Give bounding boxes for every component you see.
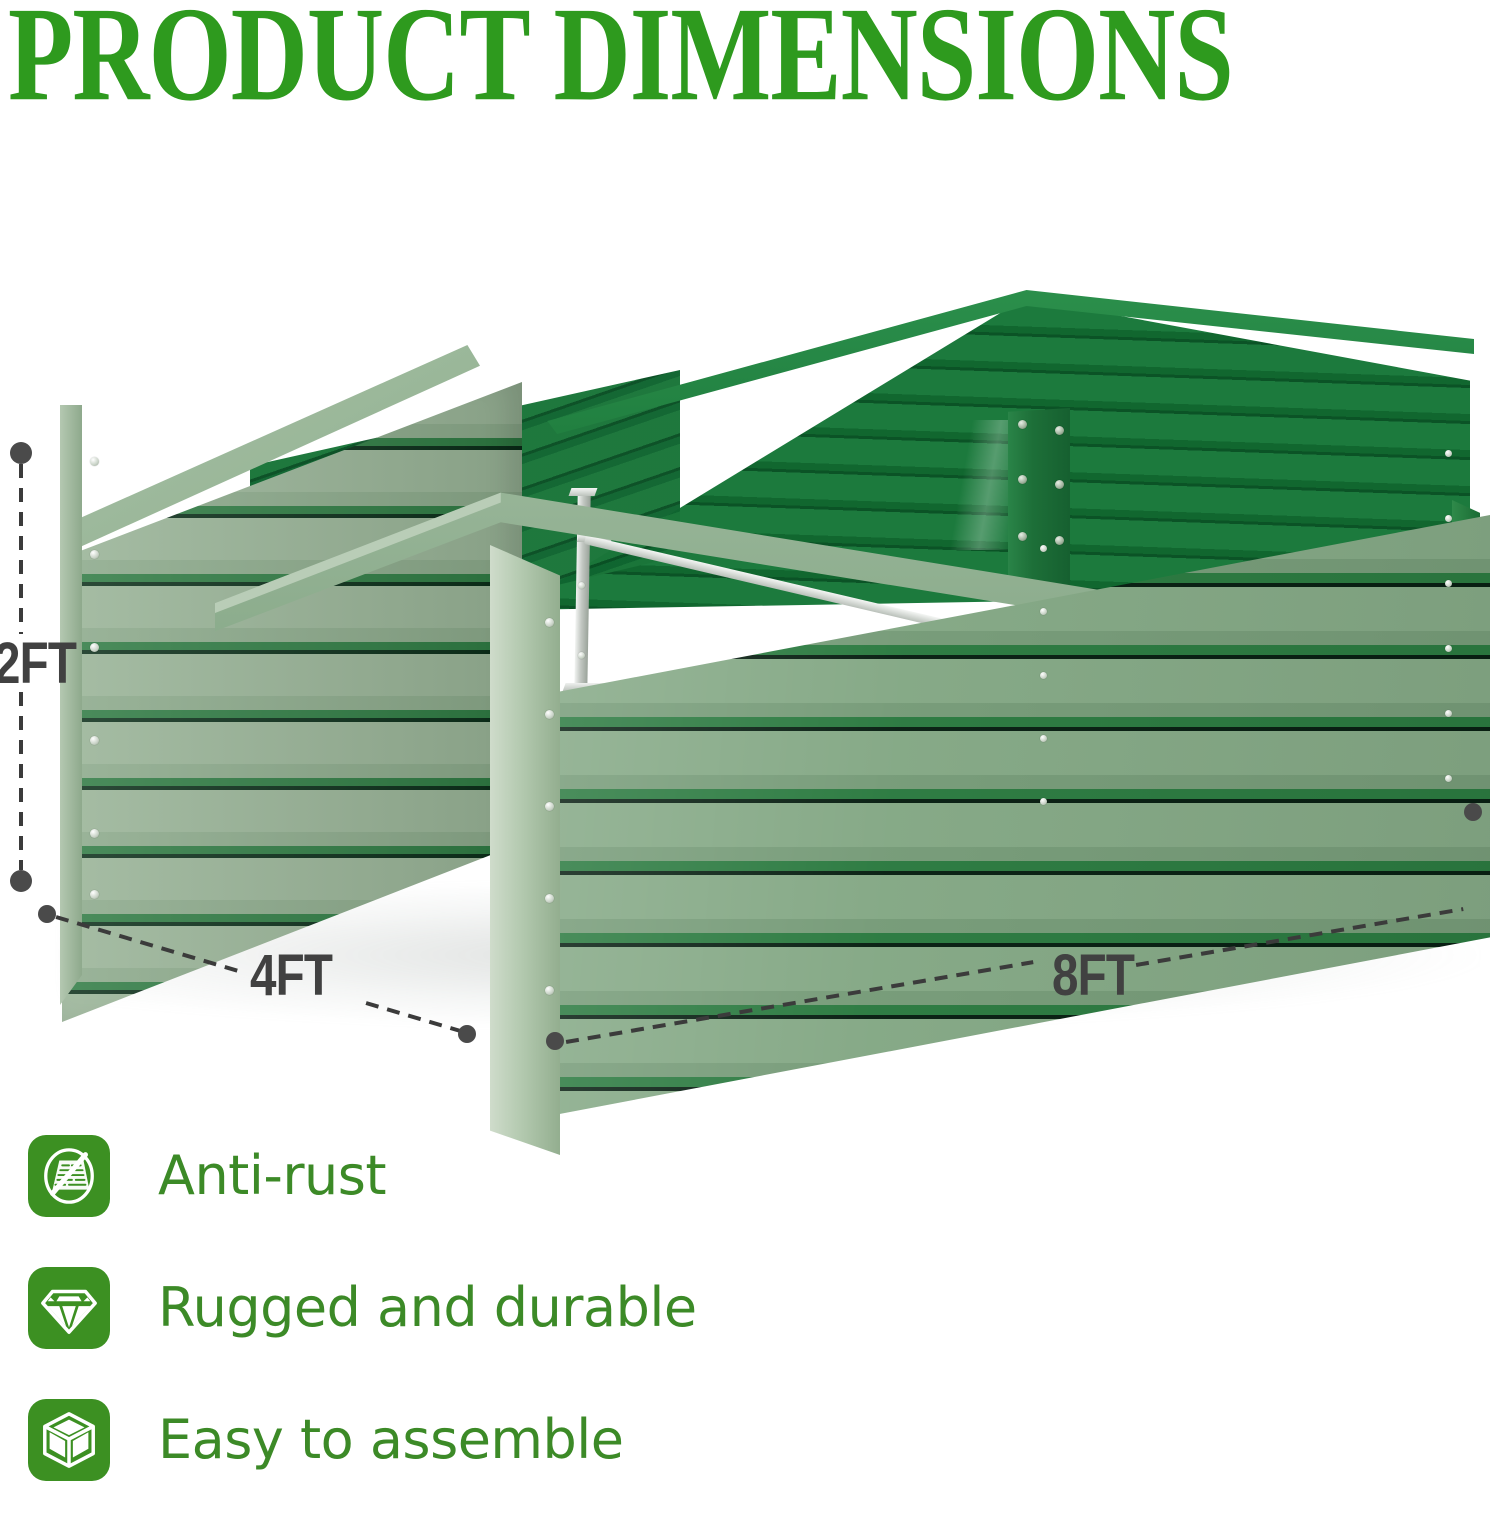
screw (1018, 532, 1027, 541)
screw (1445, 775, 1452, 782)
feature-label: Easy to assemble (158, 1413, 624, 1467)
screw (1040, 798, 1047, 805)
screw (90, 736, 99, 745)
dimension-dot-width-end (1464, 803, 1482, 821)
product-illustration: 2FT 4FT 8FT (0, 120, 1500, 1110)
assembly-cube-icon (28, 1399, 110, 1481)
screw (1055, 426, 1064, 435)
screw (1018, 475, 1027, 484)
dimension-label-height: 2FT (0, 630, 76, 697)
feature-item-rugged-durable: Rugged and durable (0, 1250, 1500, 1366)
feature-label: Anti-rust (158, 1149, 386, 1203)
screw (1018, 420, 1027, 429)
dimension-dot-height-bottom (10, 870, 32, 892)
screw (1445, 580, 1452, 587)
screw (1445, 645, 1452, 652)
screw (90, 457, 99, 466)
screw (1055, 536, 1064, 545)
screw (1040, 672, 1047, 679)
dimension-label-depth: 4FT (250, 942, 332, 1009)
front-left-corner-post (490, 545, 560, 1155)
far-corner-post (1008, 408, 1070, 596)
screw (545, 802, 554, 811)
screw (1055, 480, 1064, 489)
dimension-dot-height-top (10, 442, 32, 464)
screw (1445, 710, 1452, 717)
screw (578, 582, 585, 589)
page-title: PRODUCT DIMENSIONS (8, 0, 1434, 123)
dimension-dot-depth-start (38, 905, 56, 923)
support-bar-top-cap (569, 488, 598, 496)
feature-list: Anti-rust Rugged and du (0, 1118, 1500, 1514)
dimension-dot-depth-end (458, 1025, 476, 1043)
screw (1445, 450, 1452, 457)
feature-item-easy-assemble: Easy to assemble (0, 1382, 1500, 1498)
dimension-line-height-upper (19, 464, 23, 634)
screw (90, 829, 99, 838)
screw (545, 986, 554, 995)
left-corner-strip (60, 405, 82, 1005)
dimension-dot-width-start (546, 1032, 564, 1050)
screw (90, 890, 99, 899)
screw (1040, 545, 1047, 552)
screw (545, 710, 554, 719)
screw (90, 643, 99, 652)
no-rust-icon (28, 1135, 110, 1217)
dimension-label-width: 8FT (1052, 942, 1134, 1009)
screw (545, 894, 554, 903)
screw (578, 652, 585, 659)
screw (1040, 735, 1047, 742)
screw (1445, 515, 1452, 522)
screw (90, 550, 99, 559)
screw (545, 618, 554, 627)
dimension-line-height-lower (19, 692, 23, 870)
planter-front-panel-gloss (495, 515, 1490, 1155)
screw (1040, 608, 1047, 615)
diamond-gem-icon (28, 1267, 110, 1349)
feature-label: Rugged and durable (158, 1281, 697, 1335)
feature-item-anti-rust: Anti-rust (0, 1118, 1500, 1234)
